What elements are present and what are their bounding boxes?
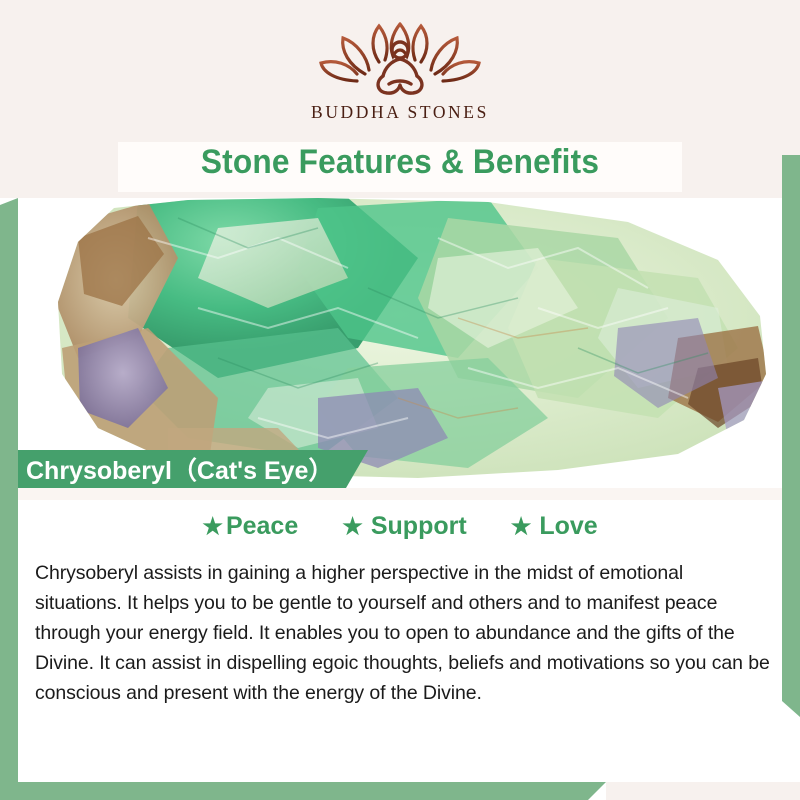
stone-photo-graphic <box>18 198 782 490</box>
card-top-tint <box>18 488 782 500</box>
keyword-love-label: Love <box>539 512 597 541</box>
keyword-support-label: Support <box>371 512 467 541</box>
keyword-peace: ★ Peace <box>202 512 298 541</box>
keyword-support: ★ Support <box>342 512 466 541</box>
frame-bar-left <box>0 198 18 800</box>
page-title: Stone Features & Benefits <box>28 143 772 182</box>
lotus-meditation-icon <box>315 18 485 100</box>
star-icon: ★ <box>202 515 223 538</box>
brand-name: BUDDHA STONES <box>311 102 489 123</box>
infographic-page: BUDDHA STONES Stone Features & Benefits <box>0 0 800 800</box>
brand-logo: BUDDHA STONES <box>0 18 800 138</box>
content-card: ★ Peace ★ Support ★ Love Chrysoberyl ass… <box>18 488 782 782</box>
star-icon: ★ <box>342 515 363 538</box>
keyword-row: ★ Peace ★ Support ★ Love <box>18 512 782 541</box>
keyword-peace-label: Peace <box>226 512 298 541</box>
stone-description: Chrysoberyl assists in gaining a higher … <box>35 558 771 708</box>
frame-bar-bottom <box>0 782 606 800</box>
stone-photo <box>18 198 782 490</box>
frame-bottom-cream-strip <box>606 782 800 800</box>
keyword-love: ★ Love <box>511 512 598 541</box>
stone-name-label: Chrysoberyl（Cat's Eye） <box>18 451 333 487</box>
star-icon: ★ <box>511 515 532 538</box>
stone-name-banner: Chrysoberyl（Cat's Eye） <box>18 450 368 488</box>
frame-bar-right <box>782 155 800 717</box>
